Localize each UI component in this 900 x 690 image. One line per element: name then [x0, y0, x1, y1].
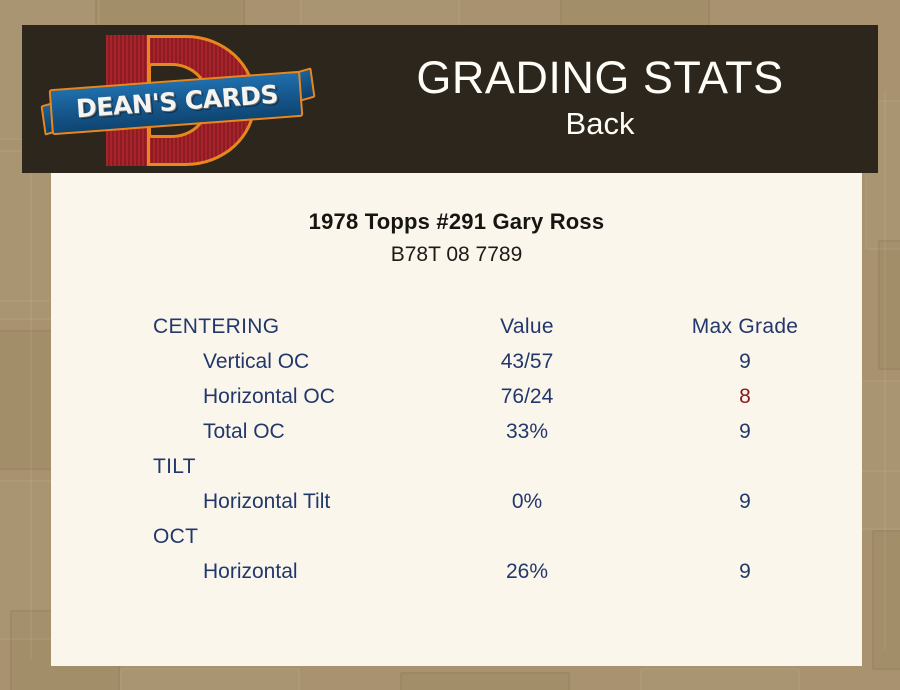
page-subtitle: Back [566, 105, 635, 144]
logo-ribbon-banner-icon: DEAN'S CARDS [44, 74, 312, 136]
column-header-max-grade [628, 519, 862, 554]
stat-max-grade-flagged: 8 [628, 379, 862, 414]
stat-label: Total OC [51, 414, 426, 449]
table-row: Horizontal26%9 [51, 554, 862, 589]
stat-label: Vertical OC [51, 344, 426, 379]
deans-cards-logo[interactable]: DEAN'S CARDS [44, 30, 312, 170]
stat-max-grade: 9 [628, 414, 862, 449]
stat-label: Horizontal OC [51, 379, 426, 414]
column-header-value: Value [426, 309, 628, 344]
grading-stats-body: CENTERINGValueMax GradeVertical OC43/579… [51, 309, 862, 589]
stat-label: Horizontal Tilt [51, 484, 426, 519]
backdrop-texture-line [884, 90, 886, 650]
backdrop-texture-card [120, 668, 300, 690]
stat-max-grade: 9 [628, 484, 862, 519]
header-title-block: GRADING STATS Back [322, 25, 878, 173]
stat-max-grade: 9 [628, 554, 862, 589]
backdrop-texture-card [640, 668, 800, 690]
backdrop-texture-card [860, 380, 900, 530]
backdrop-texture-card [560, 0, 710, 28]
section-header-row: TILT [51, 449, 862, 484]
backdrop-texture-card [878, 240, 900, 370]
table-row: Vertical OC43/579 [51, 344, 862, 379]
section-name: CENTERING [51, 309, 426, 344]
column-header-max-grade [628, 449, 862, 484]
stat-value: 76/24 [426, 379, 628, 414]
column-header-max-grade: Max Grade [628, 309, 862, 344]
backdrop-texture-line [30, 140, 32, 660]
grading-stats-table: CENTERINGValueMax GradeVertical OC43/579… [51, 309, 862, 589]
card-subtitle: B78T 08 7789 [51, 243, 862, 267]
stat-value: 43/57 [426, 344, 628, 379]
stat-value: 26% [426, 554, 628, 589]
table-row: Total OC33%9 [51, 414, 862, 449]
column-header-value [426, 519, 628, 554]
table-row: Horizontal Tilt0%9 [51, 484, 862, 519]
stat-max-grade: 9 [628, 344, 862, 379]
section-header-row: OCT [51, 519, 862, 554]
section-header-row: CENTERINGValueMax Grade [51, 309, 862, 344]
table-row: Horizontal OC76/248 [51, 379, 862, 414]
stat-label: Horizontal [51, 554, 426, 589]
backdrop-texture-line [0, 300, 50, 302]
backdrop-texture-card [400, 672, 570, 690]
backdrop-texture-card [872, 530, 900, 670]
stat-value: 0% [426, 484, 628, 519]
section-name: OCT [51, 519, 426, 554]
card-title: 1978 Topps #291 Gary Ross [51, 209, 862, 235]
page-title: GRADING STATS [416, 54, 783, 101]
section-name: TILT [51, 449, 426, 484]
backdrop-texture-line [862, 470, 900, 472]
stat-value: 33% [426, 414, 628, 449]
content-panel: 1978 Topps #291 Gary Ross B78T 08 7789 C… [51, 173, 862, 666]
header-bar: DEAN'S CARDS GRADING STATS Back [22, 25, 878, 173]
column-header-value [426, 449, 628, 484]
